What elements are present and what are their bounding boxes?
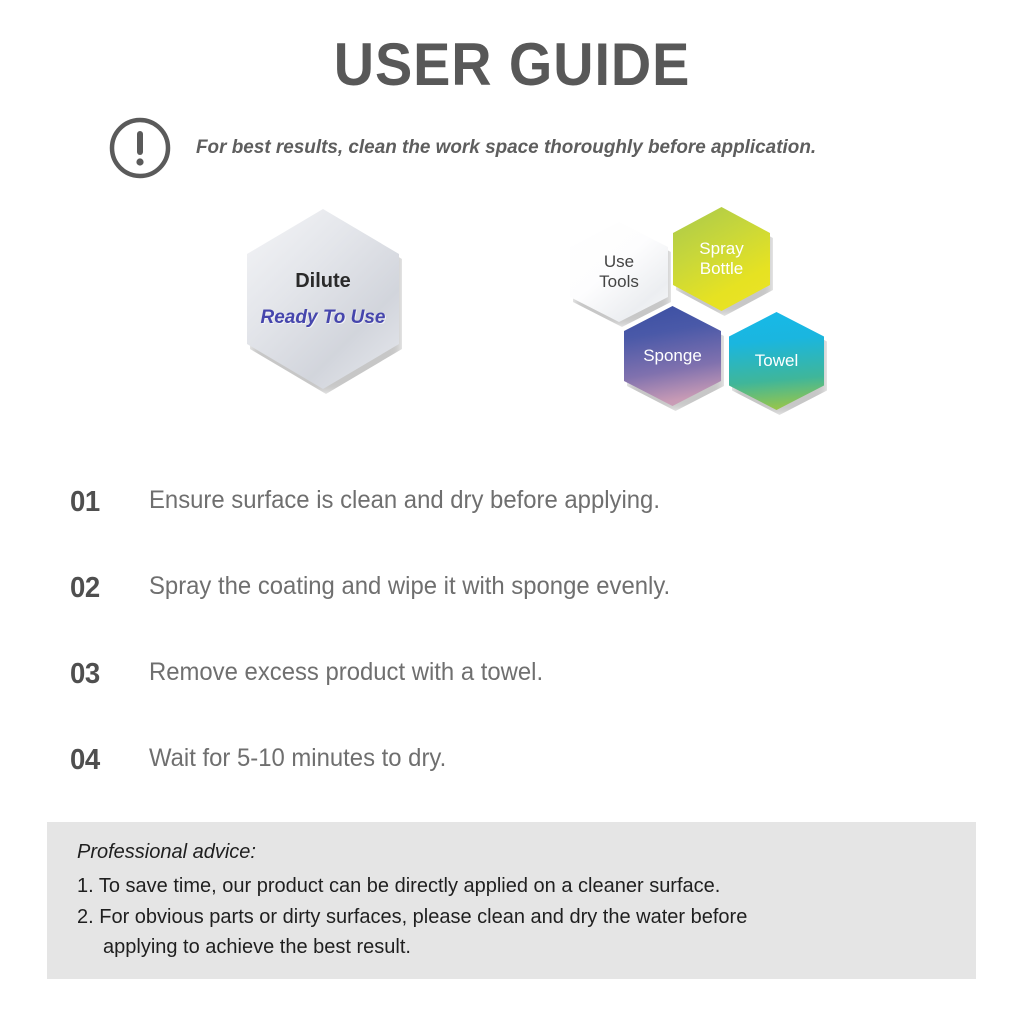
exclamation-circle-icon bbox=[104, 112, 176, 184]
spray-bottle-line2: Bottle bbox=[700, 259, 743, 279]
towel-label: Towel bbox=[755, 351, 798, 371]
step-number: 02 bbox=[70, 572, 100, 605]
step-item: 01 Ensure surface is clean and dry befor… bbox=[0, 470, 1024, 556]
step-number: 04 bbox=[70, 744, 100, 777]
spray-bottle-hexagon: Spray Bottle bbox=[673, 207, 770, 311]
step-item: 03 Remove excess product with a towel. bbox=[0, 642, 1024, 728]
notice-row: For best results, clean the work space t… bbox=[104, 112, 964, 188]
dilute-hexagon: Dilute Ready To Use bbox=[247, 209, 399, 389]
advice-item-continuation: applying to achieve the best result. bbox=[103, 936, 411, 959]
step-text: Ensure surface is clean and dry before a… bbox=[149, 486, 660, 515]
step-number: 03 bbox=[70, 658, 100, 691]
ready-to-use-label: Ready To Use bbox=[261, 307, 386, 328]
steps-list: 01 Ensure surface is clean and dry befor… bbox=[0, 470, 1024, 814]
step-item: 04 Wait for 5-10 minutes to dry. bbox=[0, 728, 1024, 814]
use-tools-line2: Tools bbox=[599, 272, 639, 292]
step-number: 01 bbox=[70, 486, 100, 519]
advice-item: 1. To save time, our product can be dire… bbox=[77, 875, 720, 898]
sponge-hexagon: Sponge bbox=[624, 306, 721, 406]
use-tools-line1: Use bbox=[604, 252, 634, 272]
notice-text: For best results, clean the work space t… bbox=[196, 136, 816, 159]
sponge-label: Sponge bbox=[643, 346, 702, 366]
advice-title: Professional advice: bbox=[77, 841, 256, 864]
professional-advice-box: Professional advice: 1. To save time, ou… bbox=[47, 822, 976, 979]
user-guide-page: USER GUIDE For best results, clean the w… bbox=[0, 0, 1024, 1024]
towel-hexagon: Towel bbox=[729, 312, 824, 410]
step-item: 02 Spray the coating and wipe it with sp… bbox=[0, 556, 1024, 642]
step-text: Spray the coating and wipe it with spong… bbox=[149, 572, 670, 601]
spray-bottle-line1: Spray bbox=[699, 239, 743, 259]
dilute-label: Dilute bbox=[295, 270, 351, 292]
step-text: Wait for 5-10 minutes to dry. bbox=[149, 744, 446, 773]
step-text: Remove excess product with a towel. bbox=[149, 658, 543, 687]
page-title: USER GUIDE bbox=[36, 30, 988, 99]
advice-item: 2. For obvious parts or dirty surfaces, … bbox=[77, 906, 747, 929]
